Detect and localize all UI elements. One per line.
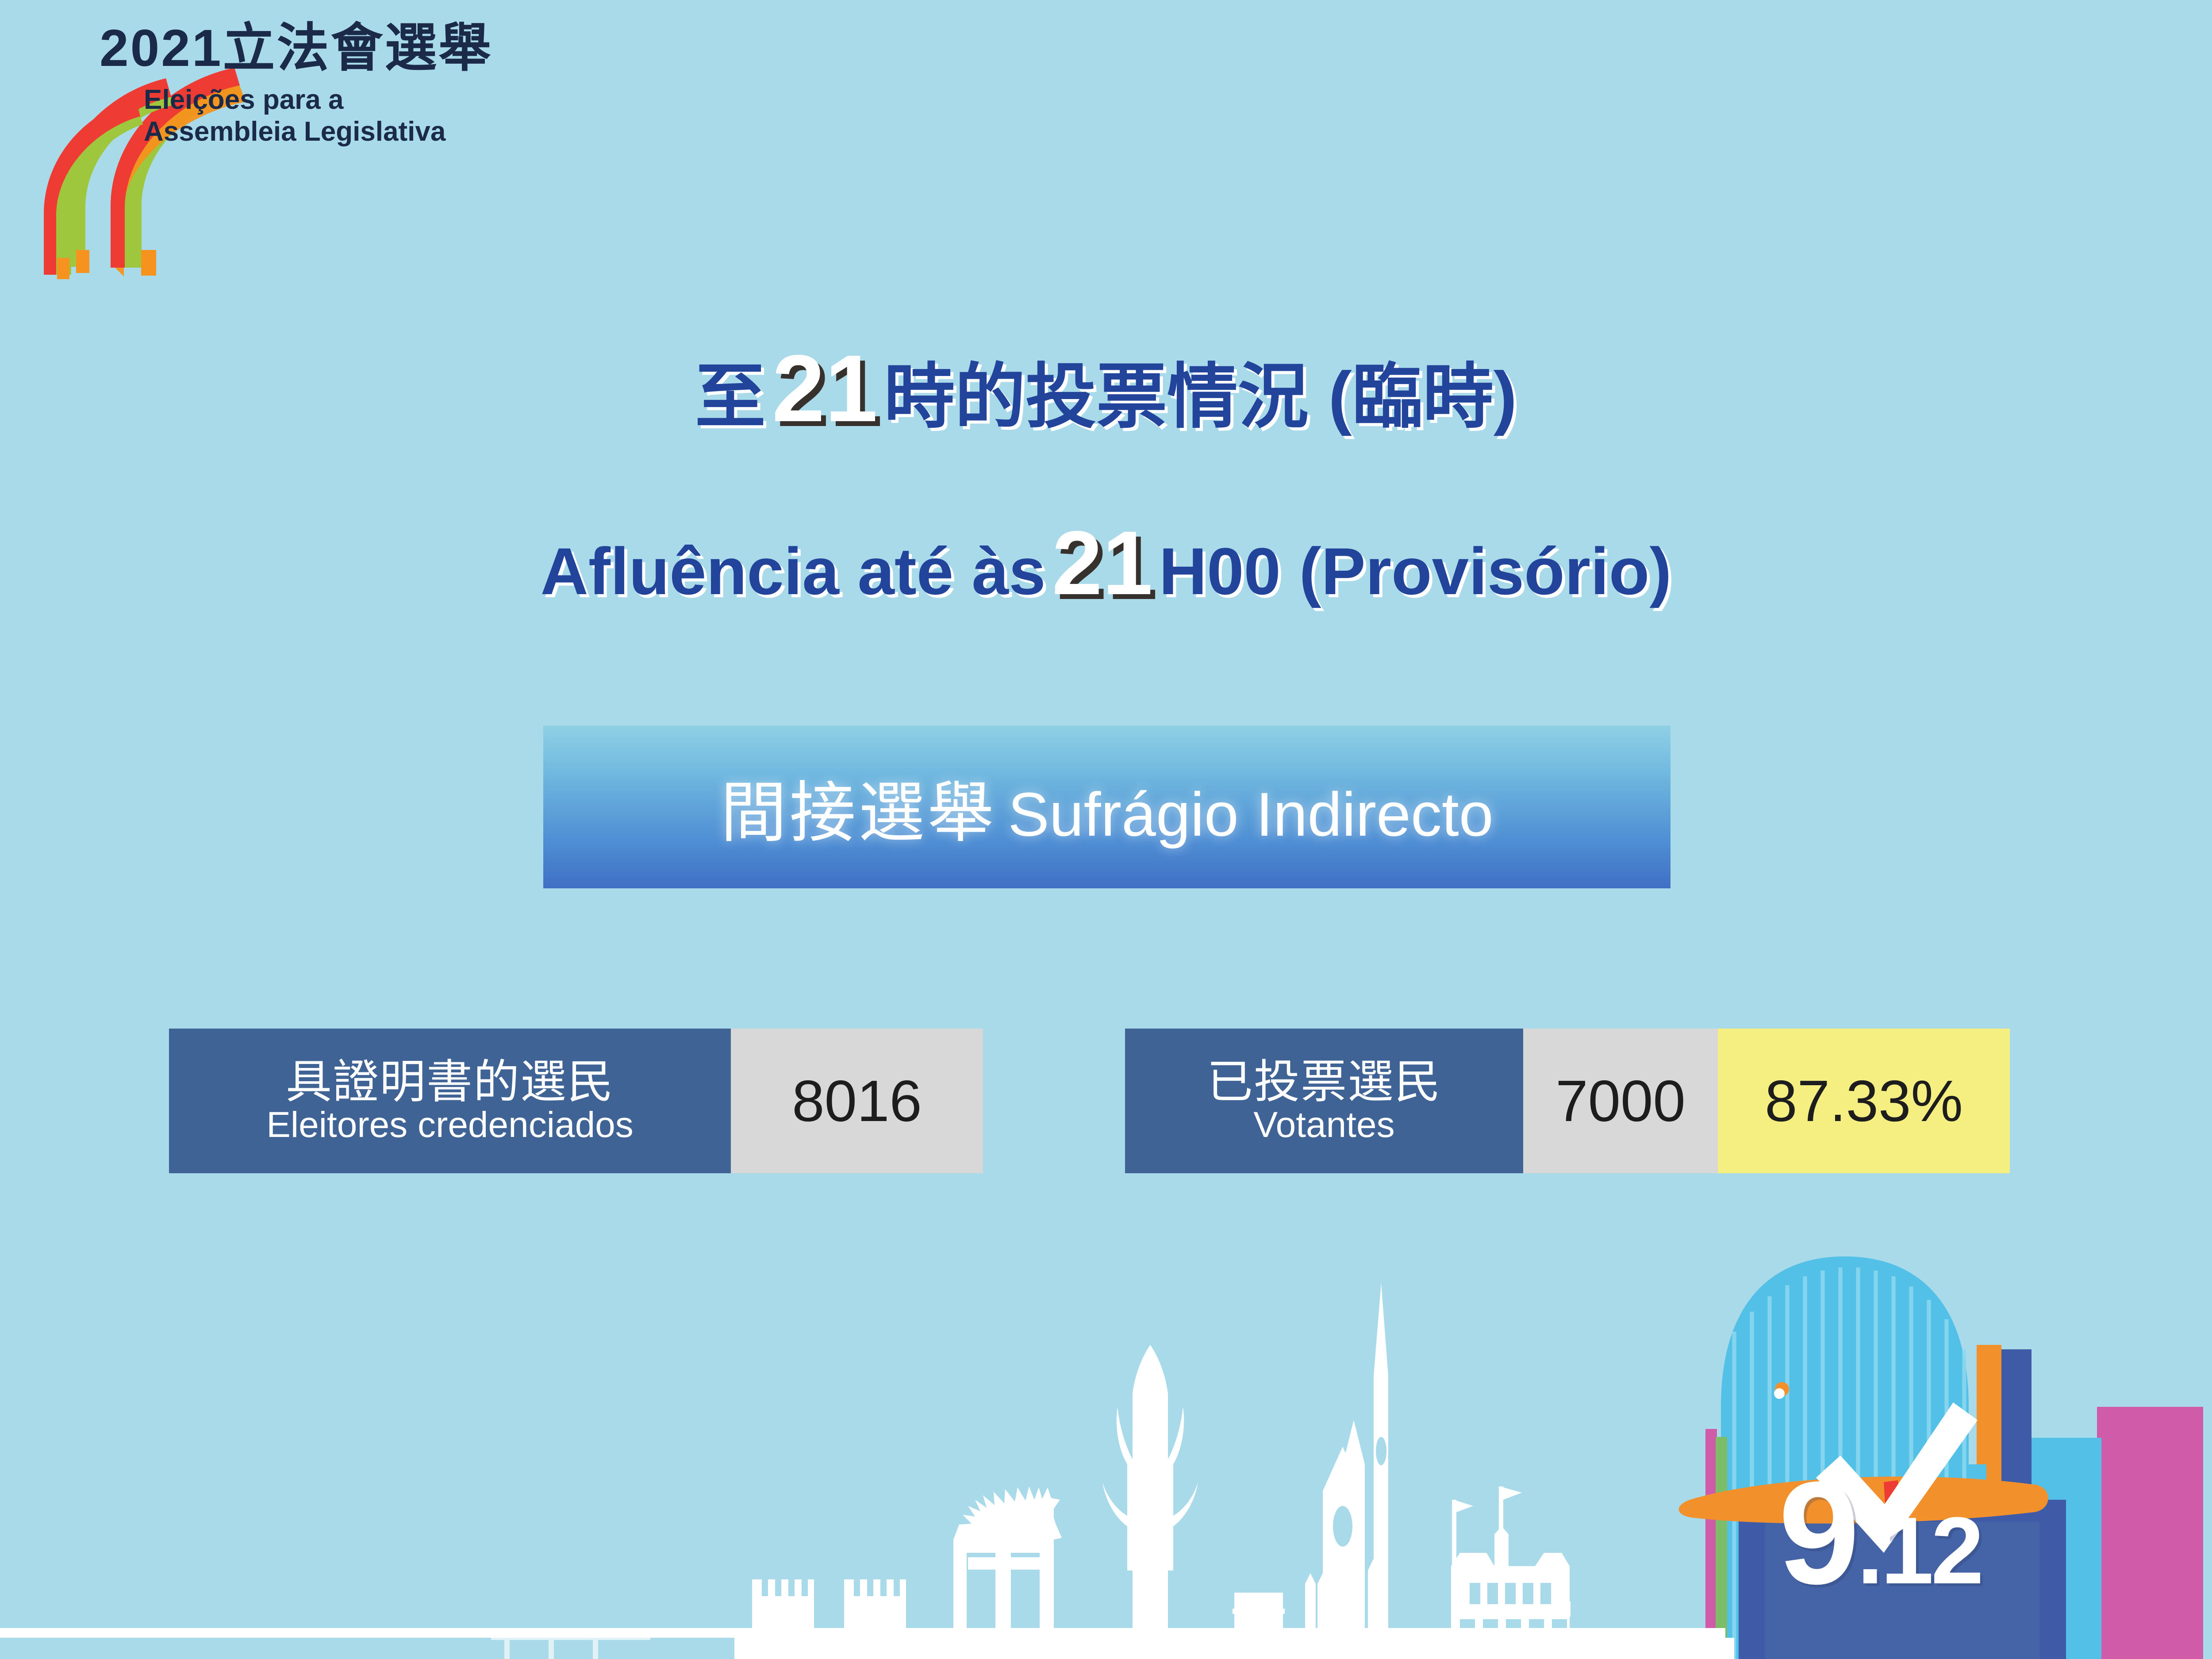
election-logo: 2021立法會選舉 Eleições para a Assembleia Leg… <box>42 18 449 292</box>
stat-label-chinese: 具證明書的選民 <box>286 1058 614 1106</box>
headline-pt-prefix: Afluência até às <box>541 534 1046 608</box>
stat-label-block: 具證明書的選民 Eleitores credenciados <box>169 1029 731 1173</box>
stat-voters-turnout: 已投票選民 Votantes 7000 87.33% <box>1125 1029 2010 1173</box>
stat-label-block: 已投票選民 Votantes <box>1125 1029 1523 1173</box>
headline-pt-hour: 21 <box>1046 512 1159 614</box>
thin-posts <box>1705 1429 1727 1659</box>
logo-title-portuguese-line1: Eleições para a <box>144 84 344 115</box>
logo-title-chinese: 2021立法會選舉 <box>100 22 493 74</box>
skyline-colour-towers <box>1977 1345 2203 1659</box>
headline-cn-prefix: 至 <box>695 357 766 436</box>
stat-percentage: 87.33% <box>1718 1029 2010 1173</box>
banner-label-chinese: 間接選舉 <box>720 776 996 850</box>
date-badge-month: 9 <box>1778 1451 1857 1614</box>
macau-skyline-silhouette <box>0 1283 1734 1659</box>
headline-pt-suffix: H00 (Provisório) <box>1159 534 1672 608</box>
logo-title-portuguese-line2: Assembleia Legislativa <box>144 116 445 147</box>
stat-value: 7000 <box>1523 1029 1718 1173</box>
stat-label-portuguese: Eleitores credenciados <box>266 1106 634 1144</box>
stat-value: 8016 <box>731 1029 983 1173</box>
stat-label-chinese: 已投票選民 <box>1207 1058 1441 1106</box>
date-badge-separator: . <box>1857 1497 1881 1604</box>
stat-credentialed-voters: 具證明書的選民 Eleitores credenciados 8016 <box>169 1029 983 1173</box>
suffrage-type-banner: 間接選舉Sufrágio Indirecto <box>543 726 1671 888</box>
banner-label-portuguese: Sufrágio Indirecto <box>1008 780 1493 849</box>
headline-cn-hour: 21 <box>766 335 884 442</box>
headline-portuguese: Afluência até às21H00 (Provisório) <box>0 518 2212 608</box>
poster-root: 2021立法會選舉 Eleições para a Assembleia Leg… <box>0 0 2212 1659</box>
headline-cn-suffix: 時的投票情況 (臨時) <box>884 357 1517 436</box>
date-badge-day: 12 <box>1881 1497 1981 1604</box>
election-date-badge: 9.12 <box>1778 1460 1981 1606</box>
stat-label-portuguese: Votantes <box>1253 1106 1394 1144</box>
headline-chinese: 至21時的投票情況 (臨時) <box>0 341 2212 436</box>
banner-text-group: 間接選舉Sufrágio Indirecto <box>720 759 1493 855</box>
